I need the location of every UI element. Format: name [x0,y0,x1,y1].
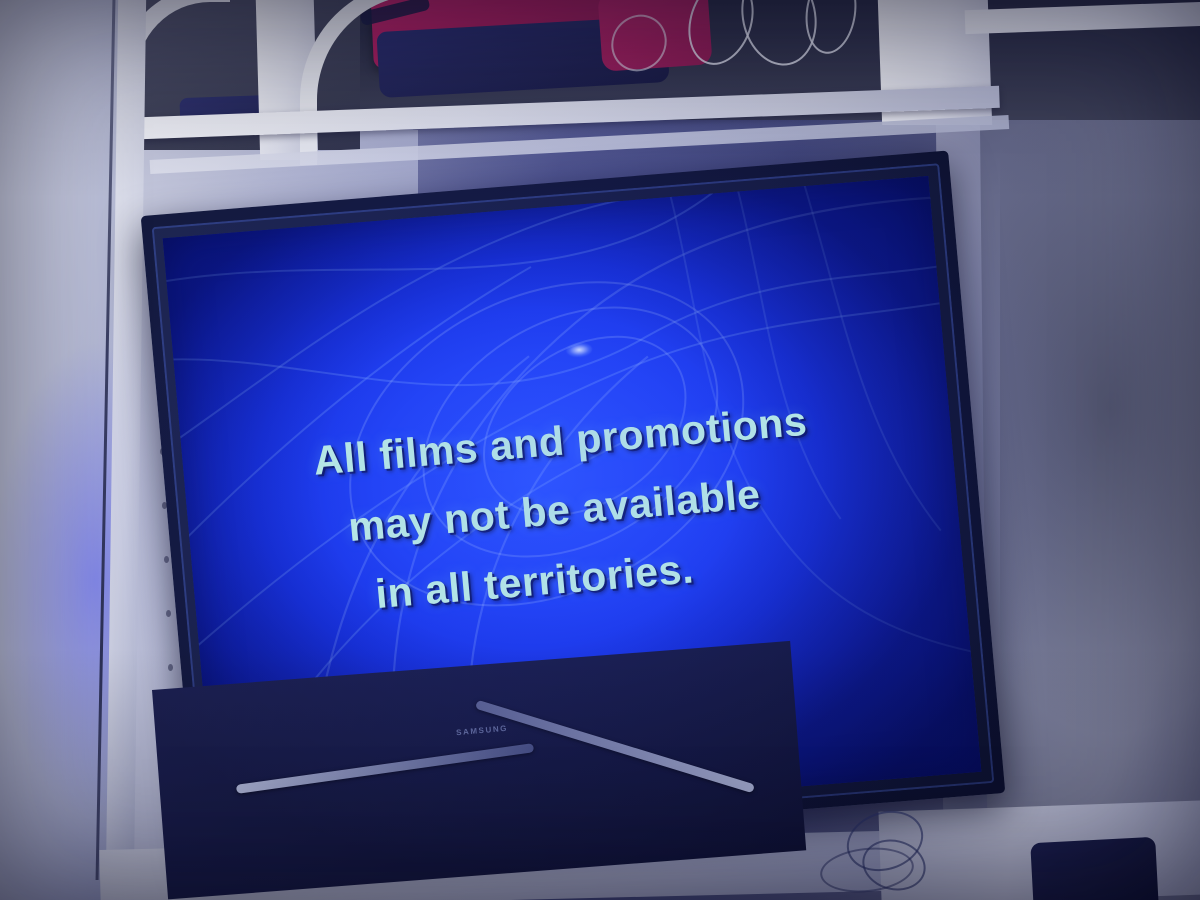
photo-scene: All films and promotions may not be avai… [0,0,1200,900]
right-wall-shadow [1000,120,1200,760]
screen-message-line-2: may not be available [346,470,762,550]
shelf-pin-hole [164,556,169,563]
shelf-pin-hole [168,664,173,671]
screen-message-line-3: in all territories. [374,545,696,618]
speaker [1030,837,1158,900]
shelf-pin-hole [166,610,171,617]
